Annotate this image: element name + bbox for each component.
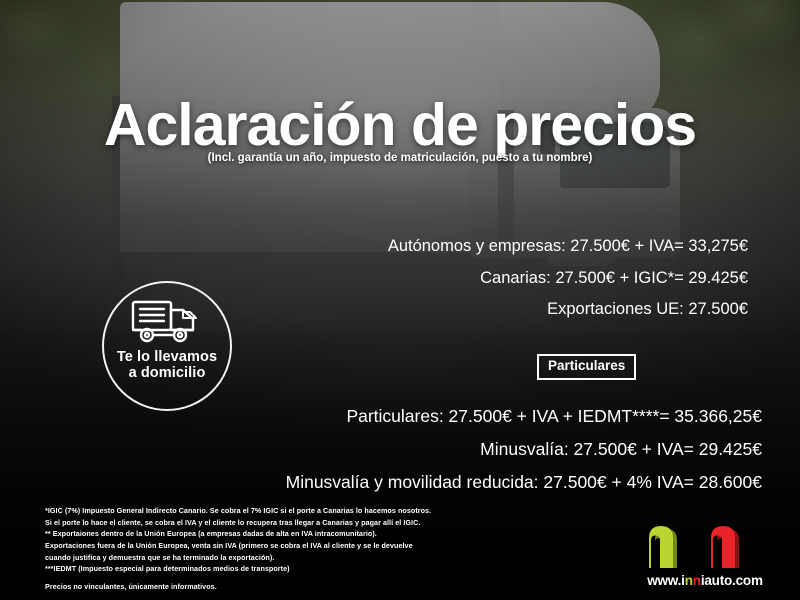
price-line-canarias: Canarias: 27.500€ + IGIC*= 29.425€ [388,263,748,295]
section-badge-particulares: Particulares [537,354,636,380]
footnote-line-5: cuando justifica y demuestra que se ha t… [45,552,431,564]
price-line-minusvalia-movilidad: Minusvalía y movilidad reducida: 27.500€… [286,466,762,499]
brand-url-n-green: n [685,573,693,588]
brand-url-suffix: iauto.com [701,573,763,588]
brand-url-n-red: n [693,573,701,588]
price-line-exportaciones-ue: Exportaciones UE: 27.500€ [388,294,748,326]
home-delivery-badge: Te lo llevamos a domicilio [102,281,232,411]
footnote-line-3: ** Exportaiones dentro de la Unión Europ… [45,528,431,540]
brand-logo[interactable]: www.inniauto.com [635,510,775,588]
page-subtitle: (Incl. garantía un año, impuesto de matr… [0,152,800,164]
footnote-disclaimer: Precios no vinculantes, únicamente infor… [45,581,431,593]
price-line-particulares: Particulares: 27.500€ + IVA + IEDMT****=… [286,400,762,433]
footnote-line-2: Si el porte lo hace el cliente, se cobra… [45,517,431,529]
footnote-line-6: ***IEDMT (Impuesto especial para determi… [45,563,431,575]
brand-url-prefix: www.i [647,573,685,588]
footnote-line-4: Exportaciones fuera de la Unión Europea,… [45,540,431,552]
delivery-badge-text: Te lo llevamos a domicilio [117,349,217,381]
brand-url[interactable]: www.inniauto.com [635,573,775,588]
delivery-truck-icon [130,299,204,345]
nn-logo-icon [635,510,775,572]
business-price-list: Autónomos y empresas: 27.500€ + IVA= 33,… [388,231,748,326]
price-line-minusvalia: Minusvalía: 27.500€ + IVA= 29.425€ [286,433,762,466]
private-price-list: Particulares: 27.500€ + IVA + IEDMT****=… [286,400,762,499]
delivery-badge-line1: Te lo llevamos [117,349,217,365]
page-title: Aclaración de precios [0,96,800,155]
price-clarification-poster: Aclaración de precios (Incl. garantía un… [0,0,800,600]
delivery-badge-line2: a domicilio [129,365,206,381]
footnote-line-1: *IGIC (7%) Impuesto General Indirecto Ca… [45,505,431,517]
footnotes: *IGIC (7%) Impuesto General Indirecto Ca… [45,505,431,593]
price-line-autonomos: Autónomos y empresas: 27.500€ + IVA= 33,… [388,231,748,263]
